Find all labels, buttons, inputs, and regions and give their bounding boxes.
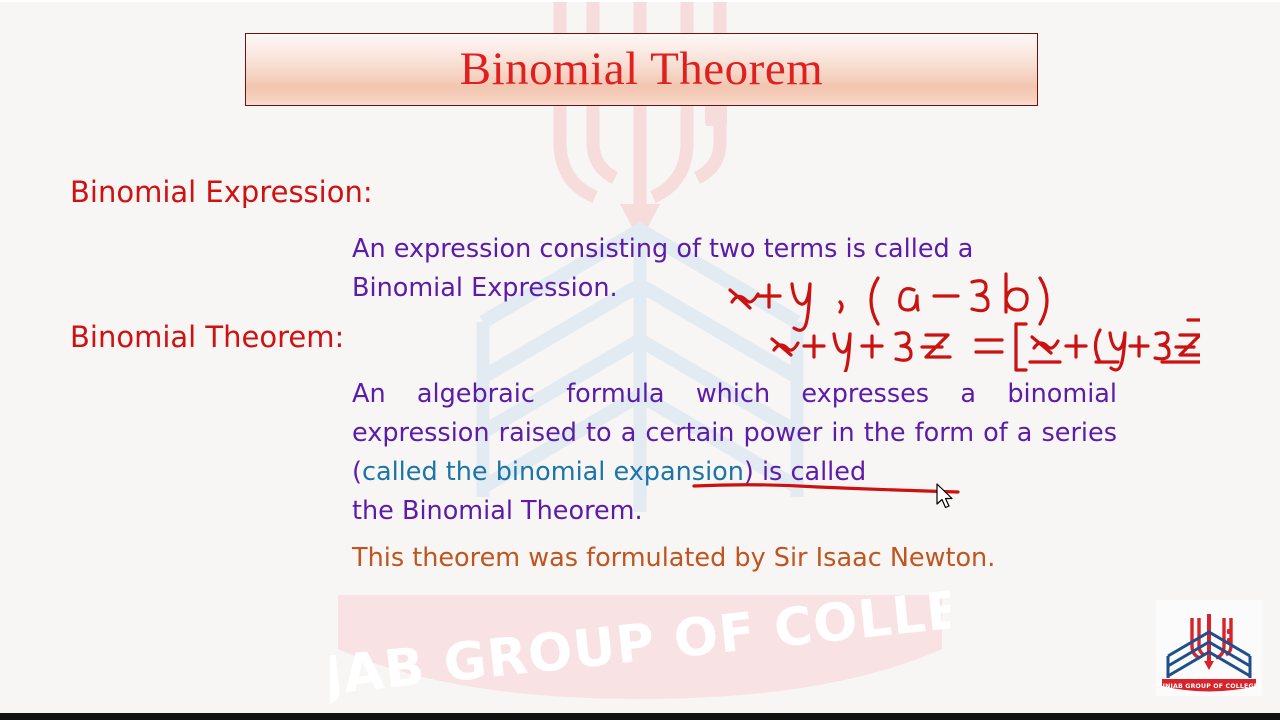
- theorem-text-part2: ) is called: [744, 457, 866, 487]
- slide-canvas: PUNJAB GROUP OF COLLEGES Binomial Theore…: [0, 0, 1280, 720]
- heading-binomial-theorem: Binomial Theorem:: [70, 320, 344, 354]
- top-edge: [0, 0, 1280, 2]
- note-newton: This theorem was formulated by Sir Isaac…: [352, 543, 995, 573]
- slide-content: Binomial Expression: An expression consi…: [0, 0, 1280, 720]
- bottom-bar: [0, 713, 1280, 720]
- theorem-text-lastline: the Binomial Theorem.: [352, 492, 1117, 531]
- paragraph-binomial-expression: An expression consisting of two terms is…: [352, 230, 1092, 308]
- paragraph-binomial-theorem: An algebraic formula which expresses a b…: [352, 375, 1117, 531]
- theorem-text-highlight: called the binomial expansion: [362, 457, 744, 487]
- logo-banner-text: PUNJAB GROUP OF COLLEGES: [1156, 683, 1262, 690]
- heading-binomial-expression: Binomial Expression:: [70, 175, 373, 209]
- punjab-group-of-colleges-logo: PUNJAB GROUP OF COLLEGES: [1156, 600, 1262, 696]
